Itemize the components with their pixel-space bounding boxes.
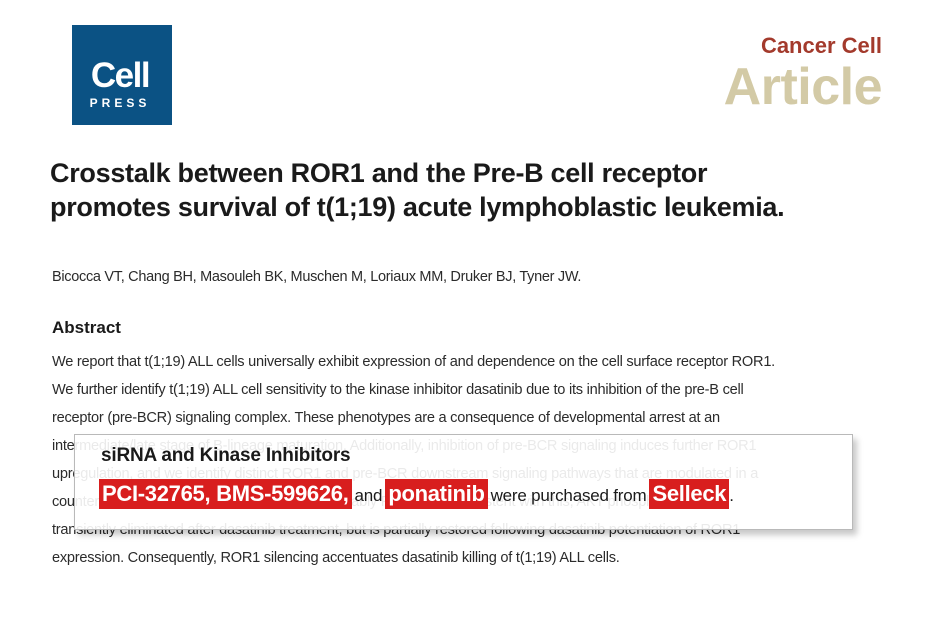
highlighted-term: Selleck	[649, 479, 729, 509]
cell-press-logo: Cell PRESS	[72, 25, 172, 125]
highlighted-term: ponatinib	[385, 479, 487, 509]
search-result-overlay[interactable]: siRNA and Kinase Inhibitors PCI-32765, B…	[74, 434, 853, 530]
journal-branding: Cancer Cell Article	[724, 34, 882, 114]
document-page: Cell PRESS Cancer Cell Article Crosstalk…	[0, 0, 930, 626]
overlay-section-heading: siRNA and Kinase Inhibitors	[101, 444, 350, 468]
highlighted-term: PCI-32765, BMS-599626,	[99, 479, 352, 509]
journal-article-label: Article	[724, 60, 882, 114]
page-title: Crosstalk between ROR1 and the Pre-B cel…	[50, 156, 830, 224]
overlay-text-fragment: were purchased from	[488, 486, 650, 505]
overlay-sentence: PCI-32765, BMS-599626,andponatinibwere p…	[99, 479, 842, 511]
abstract-line: We report that t(1;19) ALL cells univers…	[52, 348, 890, 376]
cell-press-logo-wordmark: Cell	[72, 58, 168, 93]
abstract-line: receptor (pre-BCR) signaling complex. Th…	[52, 404, 890, 432]
overlay-text-fragment: .	[729, 486, 734, 505]
abstract-heading: Abstract	[52, 318, 121, 338]
author-list: Bicocca VT, Chang BH, Masouleh BK, Musch…	[52, 268, 852, 286]
abstract-line: We further identify t(1;19) ALL cell sen…	[52, 376, 890, 404]
journal-name: Cancer Cell	[724, 34, 882, 58]
abstract-line: expression. Consequently, ROR1 silencing…	[52, 544, 890, 572]
overlay-text-fragment: and	[352, 486, 386, 505]
journal-header: Cell PRESS Cancer Cell Article	[0, 0, 930, 132]
cell-press-logo-subtitle: PRESS	[72, 97, 168, 109]
